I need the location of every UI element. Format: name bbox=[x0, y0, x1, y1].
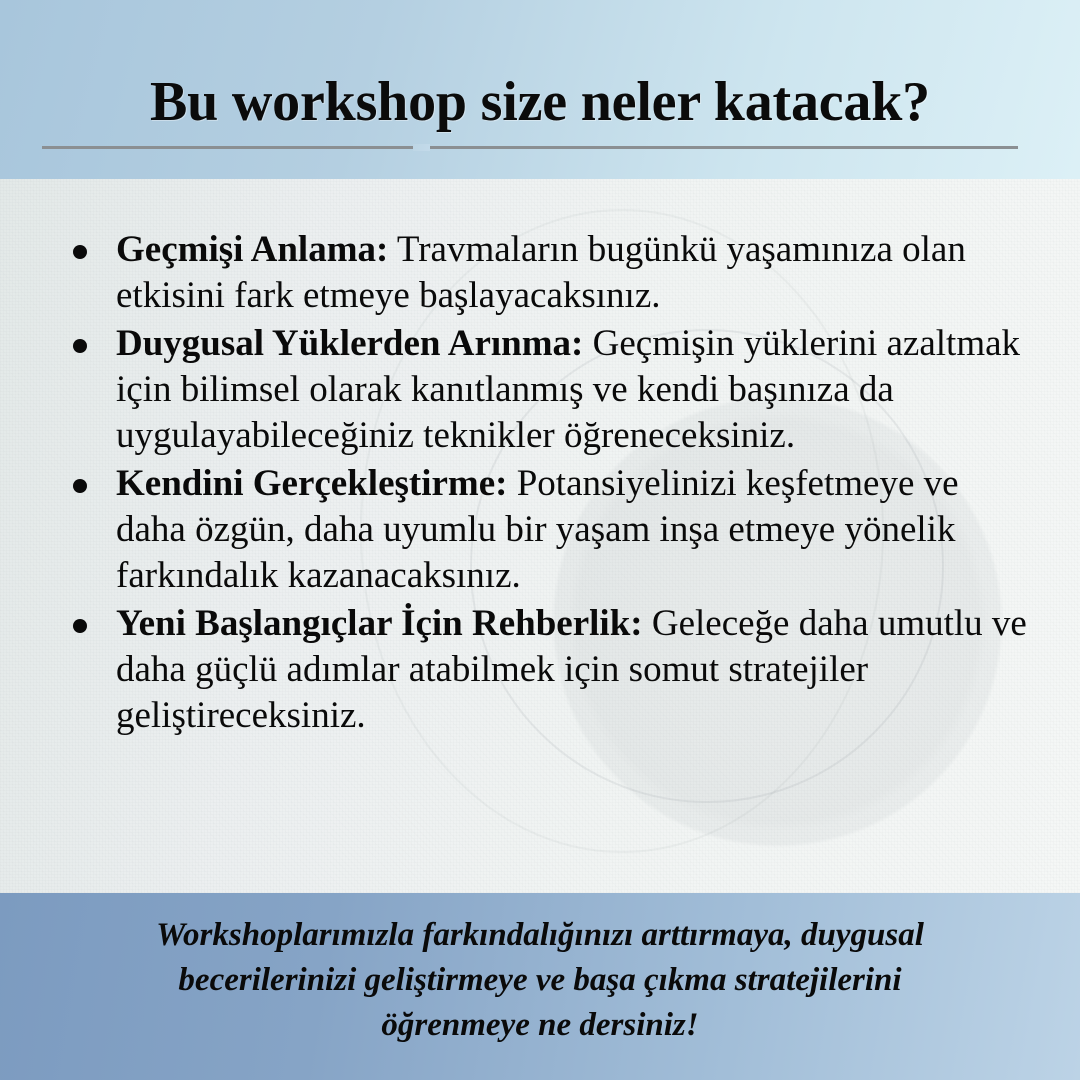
bullet-dot-icon bbox=[73, 619, 87, 633]
list-item: Geçmişi Anlama: Travmaların bugünkü yaşa… bbox=[64, 227, 1032, 319]
title-container: Bu workshop size neler katacak? bbox=[0, 74, 1080, 130]
page-title: Bu workshop size neler katacak? bbox=[150, 74, 930, 130]
content-band: Geçmişi Anlama: Travmaların bugünkü yaşa… bbox=[0, 179, 1080, 893]
list-item: Duygusal Yüklerden Arınma: Geçmişin yükl… bbox=[64, 321, 1032, 459]
list-item: Kendini Gerçekleştirme: Potansiyelinizi … bbox=[64, 461, 1032, 599]
header-band: Bu workshop size neler katacak? bbox=[0, 0, 1080, 179]
title-underline-descender-gap bbox=[413, 144, 430, 151]
footer-line-2: becerilerinizi geliştirmeye ve başa çıkm… bbox=[52, 958, 1028, 1003]
bullet-dot-icon bbox=[73, 479, 87, 493]
footer-line-1: Workshoplarımızla farkındalığınızı arttı… bbox=[52, 913, 1028, 958]
bullet-dot-icon bbox=[73, 339, 87, 353]
benefits-list: Geçmişi Anlama: Travmaların bugünkü yaşa… bbox=[64, 227, 1032, 741]
list-item-lead: Yeni Başlangıçlar İçin Rehberlik: bbox=[116, 603, 643, 644]
title-underline-rule bbox=[42, 146, 1018, 149]
list-item-lead: Duygusal Yüklerden Arınma: bbox=[116, 323, 583, 364]
footer-line-3: öğrenmeye ne dersiniz! bbox=[52, 1003, 1028, 1048]
list-item-lead: Kendini Gerçekleştirme: bbox=[116, 463, 507, 504]
slide-canvas: Bu workshop size neler katacak? Geçmişi … bbox=[0, 0, 1080, 1080]
bullet-dot-icon bbox=[73, 245, 87, 259]
footer-band: Workshoplarımızla farkındalığınızı arttı… bbox=[0, 893, 1080, 1080]
list-item-lead: Geçmişi Anlama: bbox=[116, 229, 388, 270]
list-item: Yeni Başlangıçlar İçin Rehberlik: Gelece… bbox=[64, 601, 1032, 739]
footer-message: Workshoplarımızla farkındalığınızı arttı… bbox=[52, 913, 1028, 1048]
